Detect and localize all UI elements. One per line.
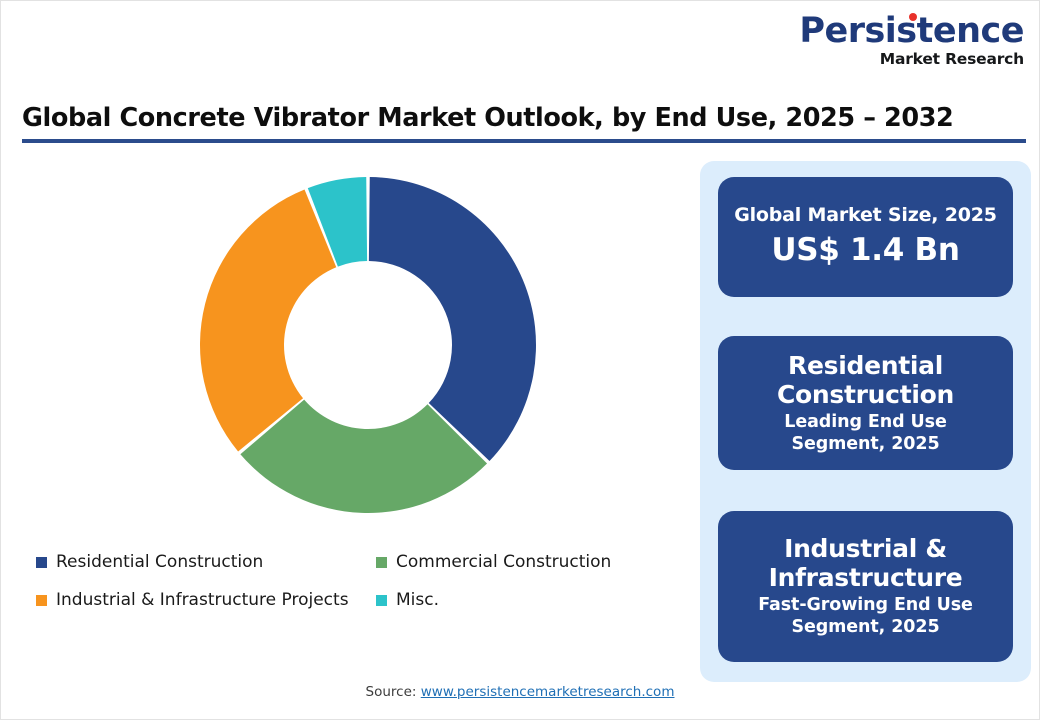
legend-label: Misc.: [396, 590, 439, 610]
legend-row-2: Industrial & Infrastructure Projects Mis…: [36, 590, 686, 610]
highlights-panel: Global Market Size, 2025 US$ 1.4 Bn Resi…: [700, 161, 1031, 682]
card-kicker: Global Market Size, 2025: [734, 204, 997, 227]
page-title: Global Concrete Vibrator Market Outlook,…: [22, 104, 1022, 133]
legend-label: Commercial Construction: [396, 552, 611, 572]
donut-chart-svg: [14, 160, 686, 560]
card-caption: Leading End Use Segment, 2025: [784, 412, 946, 456]
legend-item-commercial-construction[interactable]: Commercial Construction: [376, 552, 611, 572]
legend-swatch-icon: [376, 557, 387, 568]
highlight-card-fast-growing-segment: Industrial & Infrastructure Fast-Growing…: [718, 511, 1013, 662]
title-underline-rule: [22, 139, 1026, 143]
brand-tagline: Market Research: [799, 52, 1024, 68]
brand-logo: Persistence Market Research: [799, 14, 1024, 68]
donut-slice[interactable]: [369, 177, 536, 461]
page-title-block: Global Concrete Vibrator Market Outlook,…: [22, 104, 1022, 143]
highlight-card-market-size: Global Market Size, 2025 US$ 1.4 Bn: [718, 177, 1013, 297]
legend-item-misc[interactable]: Misc.: [376, 590, 439, 610]
legend-label: Residential Construction: [56, 552, 263, 572]
chart-legend: Residential Construction Commercial Cons…: [36, 552, 686, 628]
card-headline: Residential Construction: [718, 351, 1013, 409]
card-caption-line-2: Segment, 2025: [758, 617, 973, 639]
card-caption-line-1: Fast-Growing End Use: [758, 595, 973, 617]
legend-swatch-icon: [36, 595, 47, 606]
donut-chart: [14, 160, 686, 560]
legend-label: Industrial & Infrastructure Projects: [56, 590, 349, 610]
card-caption: Fast-Growing End Use Segment, 2025: [758, 595, 973, 639]
highlight-card-leading-segment: Residential Construction Leading End Use…: [718, 336, 1013, 470]
card-headline: Industrial & Infrastructure: [718, 534, 1013, 592]
card-value: US$ 1.4 Bn: [771, 231, 959, 270]
legend-swatch-icon: [36, 557, 47, 568]
legend-item-industrial-infrastructure-projects[interactable]: Industrial & Infrastructure Projects: [36, 590, 376, 610]
source-link[interactable]: www.persistencemarketresearch.com: [421, 684, 675, 700]
logo-red-dot-icon: [909, 13, 917, 21]
card-caption-line-2: Segment, 2025: [784, 434, 946, 456]
legend-swatch-icon: [376, 595, 387, 606]
source-prefix: Source:: [366, 684, 421, 700]
legend-row-1: Residential Construction Commercial Cons…: [36, 552, 686, 572]
card-caption-line-1: Leading End Use: [784, 412, 946, 434]
infographic-page: Persistence Market Research Global Concr…: [0, 0, 1040, 720]
legend-item-residential-construction[interactable]: Residential Construction: [36, 552, 376, 572]
source-line: Source: www.persistencemarketresearch.co…: [0, 684, 1040, 700]
